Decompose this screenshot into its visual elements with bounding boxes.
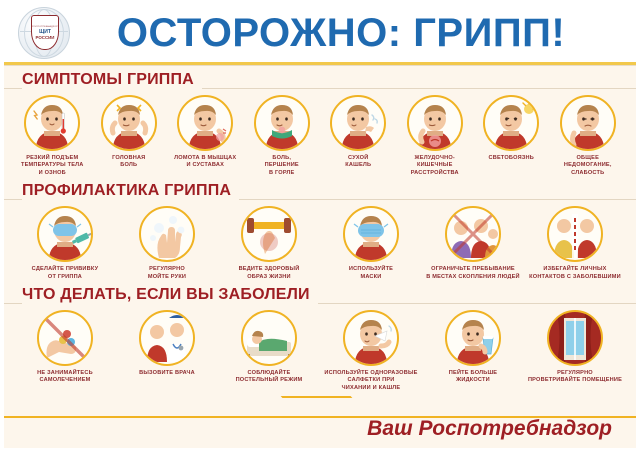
info-item-label: РЕГУЛЯРНОМОЙТЕ РУКИ <box>148 266 186 281</box>
section-title: ПРОФИЛАКТИКА ГРИППА <box>22 182 239 200</box>
call-doctor-icon <box>139 310 195 366</box>
info-item-label: ОБЩЕЕНЕДОМОГАНИЕ,СЛАБОСТЬ <box>564 155 612 177</box>
sore-throat-icon <box>254 95 310 151</box>
avoid-crowds-icon <box>445 206 501 262</box>
icon-row-prevention: СДЕЛАЙТЕ ПРИВИВКУОТ ГРИППА РЕГУЛЯРНОМОЙТ… <box>4 202 636 281</box>
info-item-label: РЕЗКИЙ ПОДЪЕМТЕМПЕРАТУРЫ ТЕЛАИ ОЗНОБ <box>21 155 84 177</box>
info-item: РЕГУЛЯРНОМОЙТЕ РУКИ <box>116 206 218 281</box>
info-item: ИСПОЛЬЗУЙТЕМАСКИ <box>320 206 422 281</box>
info-item-label: БОЛЬ,ПЕРШЕНИЕВ ГОРЛЕ <box>265 155 299 177</box>
dry-cough-icon <box>330 95 386 151</box>
info-item: ИСПОЛЬЗУЙТЕ ОДНОРАЗОВЫЕСАЛФЕТКИ ПРИЧИХАН… <box>320 310 422 392</box>
info-item: СУХОЙКАШЕЛЬ <box>320 95 397 177</box>
info-item: РЕГУЛЯРНОПРОВЕТРИВАЙТЕ ПОМЕЩЕНИЕ <box>524 310 626 392</box>
info-item: НЕ ЗАНИМАЙТЕСЬСАМОЛЕЧЕНИЕМ <box>14 310 116 392</box>
icon-row-if-sick: НЕ ЗАНИМАЙТЕСЬСАМОЛЕЧЕНИЕМ ВЫЗОВИТЕ ВРАЧ… <box>4 306 636 392</box>
info-item: ОГРАНИЧЬТЕ ПРЕБЫВАНИЕВ МЕСТАХ СКОПЛЕНИЯ … <box>422 206 524 281</box>
info-item-label: ИСПОЛЬЗУЙТЕ ОДНОРАЗОВЫЕСАЛФЕТКИ ПРИЧИХАН… <box>324 370 417 392</box>
section-title: ЧТО ДЕЛАТЬ, ЕСЛИ ВЫ ЗАБОЛЕЛИ <box>22 286 318 304</box>
logo-line-3: РОССИИ <box>36 35 55 40</box>
info-item-label: ВЕДИТЕ ЗДОРОВЫЙОБРАЗ ЖИЗНИ <box>239 266 300 281</box>
info-item: ЖЕЛУДОЧНО-КИШЕЧНЫЕРАССТРОЙСТВА <box>397 95 474 177</box>
info-item: ВЕДИТЕ ЗДОРОВЫЙОБРАЗ ЖИЗНИ <box>218 206 320 281</box>
info-item-label: РЕГУЛЯРНОПРОВЕТРИВАЙТЕ ПОМЕЩЕНИЕ <box>528 370 622 385</box>
page-title: ОСТОРОЖНО: ГРИПП! <box>70 11 636 56</box>
info-item-label: СДЕЛАЙТЕ ПРИВИВКУОТ ГРИППА <box>32 266 99 281</box>
sections-container: СИМПТОМЫ ГРИППА РЕЗКИЙ ПОДЪЕМТЕМПЕРАТУРЫ… <box>4 66 636 392</box>
rospotrebnadzor-logo: РОСПОТРЕБНАДЗОР ЩИТ РОССИИ <box>18 7 70 59</box>
info-item-label: СУХОЙКАШЕЛЬ <box>345 155 371 170</box>
info-item-label: ГОЛОВНАЯБОЛЬ <box>112 155 145 170</box>
info-item-label: ЛОМОТА В МЫШЦАХИ СУСТАВАХ <box>174 155 236 170</box>
info-item: СОБЛЮДАЙТЕПОСТЕЛЬНЫЙ РЕЖИМ <box>218 310 320 392</box>
info-item: ПЕЙТЕ БОЛЬШЕЖИДКОСТИ <box>422 310 524 392</box>
headache-icon <box>101 95 157 151</box>
info-item-label: ВЫЗОВИТЕ ВРАЧА <box>139 370 195 377</box>
no-self-medication-icon <box>37 310 93 366</box>
info-item-label: ПЕЙТЕ БОЛЬШЕЖИДКОСТИ <box>449 370 497 385</box>
info-item-label: НЕ ЗАНИМАЙТЕСЬСАМОЛЕЧЕНИЕМ <box>37 370 93 385</box>
info-item-label: ИСПОЛЬЗУЙТЕМАСКИ <box>349 266 393 281</box>
icon-row-symptoms: РЕЗКИЙ ПОДЪЕМТЕМПЕРАТУРЫ ТЕЛАИ ОЗНОБ ГОЛ… <box>4 91 636 177</box>
section-title: СИМПТОМЫ ГРИППА <box>22 71 202 89</box>
healthy-lifestyle-icon <box>241 206 297 262</box>
info-item-label: СОБЛЮДАЙТЕПОСТЕЛЬНЫЙ РЕЖИМ <box>236 370 303 385</box>
general-weakness-icon <box>560 95 616 151</box>
vaccination-syringe-icon <box>37 206 93 262</box>
poster-footer: Ваш Роспотребнадзор <box>4 410 636 448</box>
ventilate-room-icon <box>547 310 603 366</box>
section-heading-prevention: ПРОФИЛАКТИКА ГРИППА <box>4 177 636 202</box>
info-item: ВЫЗОВИТЕ ВРАЧА <box>116 310 218 392</box>
disposable-tissues-icon <box>343 310 399 366</box>
info-item: БОЛЬ,ПЕРШЕНИЕВ ГОРЛЕ <box>244 95 321 177</box>
info-item: СДЕЛАЙТЕ ПРИВИВКУОТ ГРИППА <box>14 206 116 281</box>
bed-rest-icon <box>241 310 297 366</box>
info-item: СВЕТОБОЯЗНЬ <box>473 95 550 177</box>
avoid-contact-icon <box>547 206 603 262</box>
section-heading-symptoms: СИМПТОМЫ ГРИППА <box>4 66 636 91</box>
wash-hands-icon <box>139 206 195 262</box>
info-item-label: ОГРАНИЧЬТЕ ПРЕБЫВАНИЕВ МЕСТАХ СКОПЛЕНИЯ … <box>426 266 519 281</box>
photophobia-icon <box>483 95 539 151</box>
flu-awareness-poster: РОСПОТРЕБНАДЗОР ЩИТ РОССИИ ОСТОРОЖНО: ГР… <box>0 0 640 452</box>
footer-signature: Ваш Роспотребнадзор <box>367 417 636 441</box>
fever-thermometer-icon <box>24 95 80 151</box>
info-item-label: ИЗБЕГАЙТЕ ЛИЧНЫХКОНТАКТОВ С ЗАБОЛЕВШИМИ <box>529 266 621 281</box>
info-item: ИЗБЕГАЙТЕ ЛИЧНЫХКОНТАКТОВ С ЗАБОЛЕВШИМИ <box>524 206 626 281</box>
info-item-label: ЖЕЛУДОЧНО-КИШЕЧНЫЕРАССТРОЙСТВА <box>411 155 459 177</box>
section-heading-if-sick: ЧТО ДЕЛАТЬ, ЕСЛИ ВЫ ЗАБОЛЕЛИ <box>4 281 636 306</box>
poster-header: РОСПОТРЕБНАДЗОР ЩИТ РОССИИ ОСТОРОЖНО: ГР… <box>4 4 636 62</box>
shield-icon: РОСПОТРЕБНАДЗОР ЩИТ РОССИИ <box>31 15 59 50</box>
muscle-joint-ache-icon <box>177 95 233 151</box>
info-item: ЛОМОТА В МЫШЦАХИ СУСТАВАХ <box>167 95 244 177</box>
info-item-label: СВЕТОБОЯЗНЬ <box>488 155 534 162</box>
info-item: ГОЛОВНАЯБОЛЬ <box>91 95 168 177</box>
stomach-upset-icon <box>407 95 463 151</box>
info-item: РЕЗКИЙ ПОДЪЕМТЕМПЕРАТУРЫ ТЕЛАИ ОЗНОБ <box>14 95 91 177</box>
drink-fluids-icon <box>445 310 501 366</box>
info-item: ОБЩЕЕНЕДОМОГАНИЕ,СЛАБОСТЬ <box>550 95 627 177</box>
face-mask-icon <box>343 206 399 262</box>
